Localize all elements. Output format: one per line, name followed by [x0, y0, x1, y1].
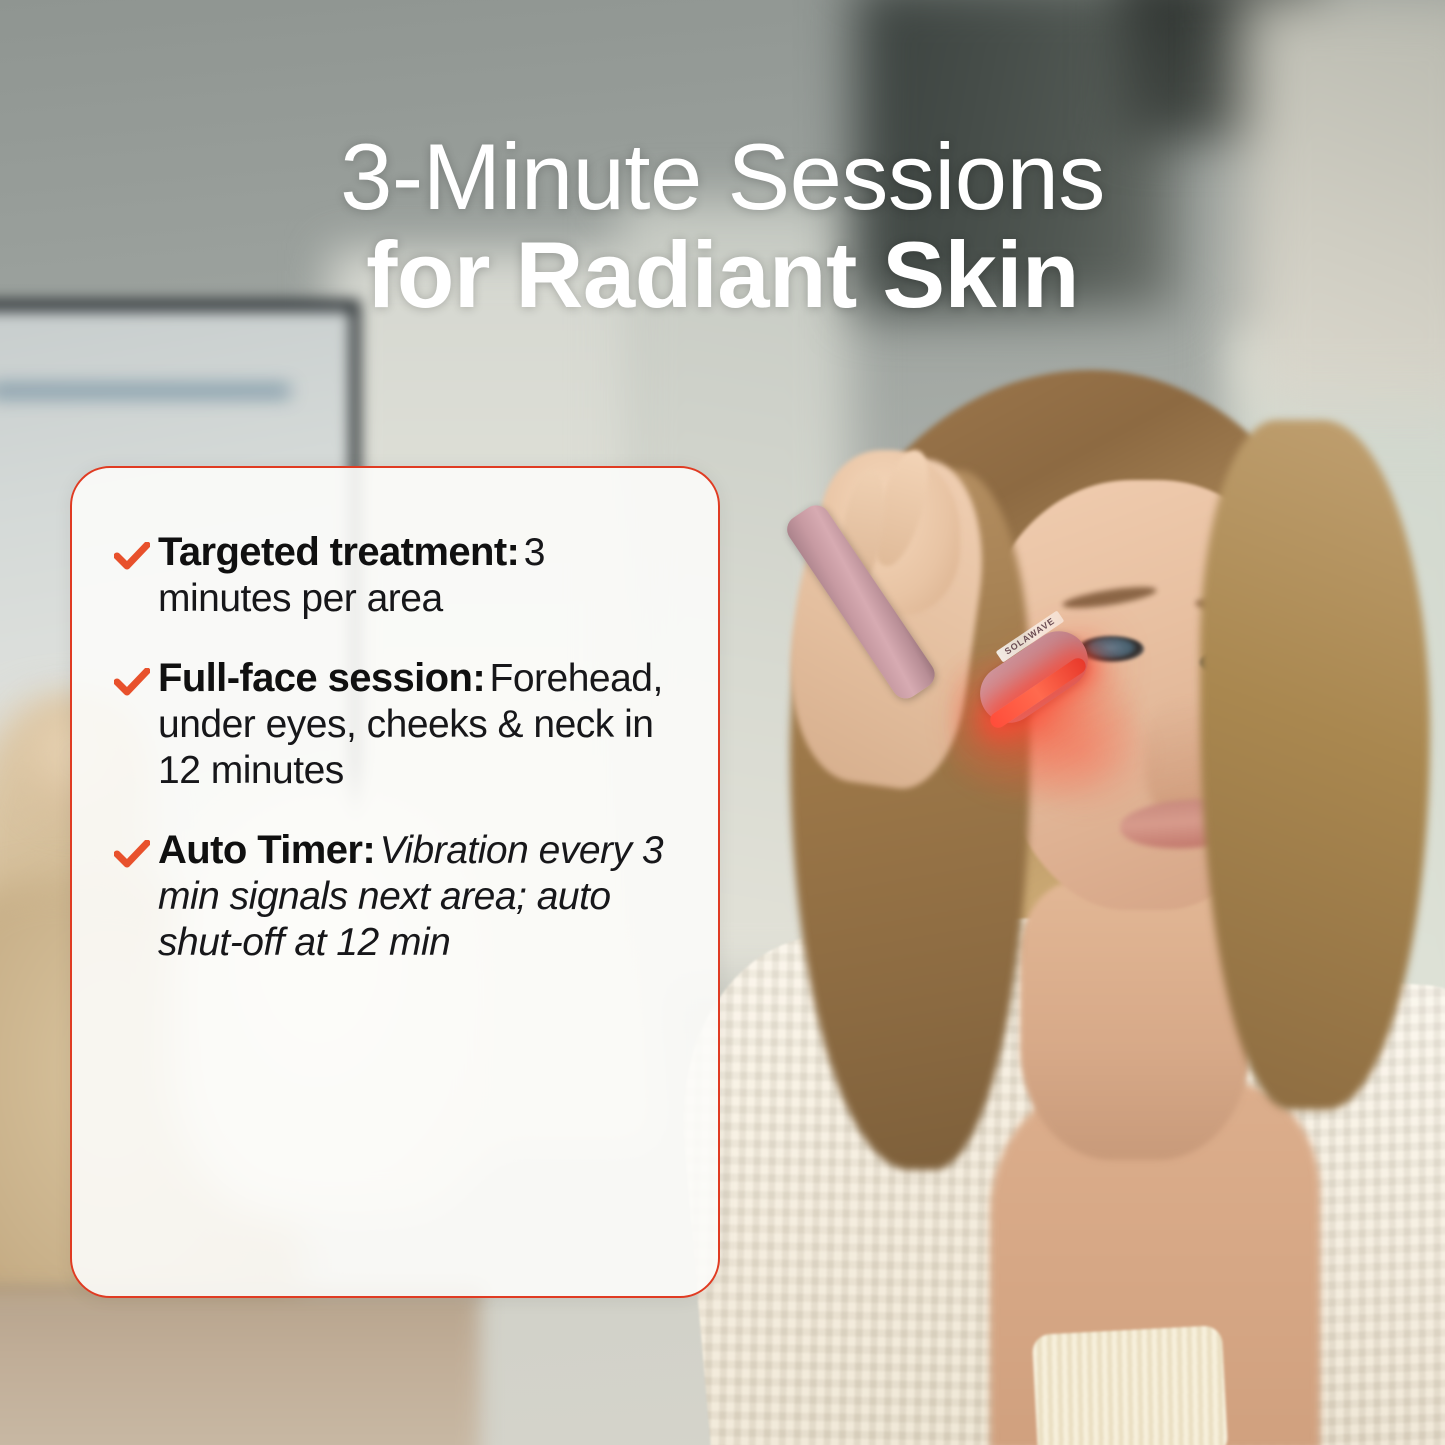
hair-right: [1200, 420, 1430, 1110]
feature-title: Full-face session:: [158, 656, 485, 700]
feature-title: Targeted treatment:: [158, 530, 519, 574]
feature-text: Auto Timer: Vibration every 3 min signal…: [158, 828, 678, 966]
feature-text: Full-face session: Forehead, under eyes,…: [158, 656, 678, 794]
feature-title: Auto Timer:: [158, 828, 375, 872]
headline-line-2: for Radiant Skin: [0, 226, 1445, 324]
feature-item: Full-face session: Forehead, under eyes,…: [114, 656, 678, 794]
check-icon: [114, 542, 158, 570]
feature-item: Targeted treatment: 3 minutes per area: [114, 530, 678, 622]
headline-line-1: 3-Minute Sessions: [0, 128, 1445, 226]
headline: 3-Minute Sessions for Radiant Skin: [0, 128, 1445, 324]
feature-item: Auto Timer: Vibration every 3 min signal…: [114, 828, 678, 966]
red-light-therapy-wand: SOLAWAVE: [890, 470, 1110, 750]
robe-collar: [1032, 1325, 1229, 1445]
feature-card: Targeted treatment: 3 minutes per area F…: [70, 466, 720, 1298]
feature-text: Targeted treatment: 3 minutes per area: [158, 530, 678, 622]
mirror-edge: [0, 384, 290, 398]
check-icon: [114, 840, 158, 868]
check-icon: [114, 668, 158, 696]
promo-image: SOLAWAVE 3-Minute Sessions for Radiant S…: [0, 0, 1445, 1445]
counter: [0, 1290, 480, 1445]
feature-list: Targeted treatment: 3 minutes per area F…: [72, 468, 718, 966]
